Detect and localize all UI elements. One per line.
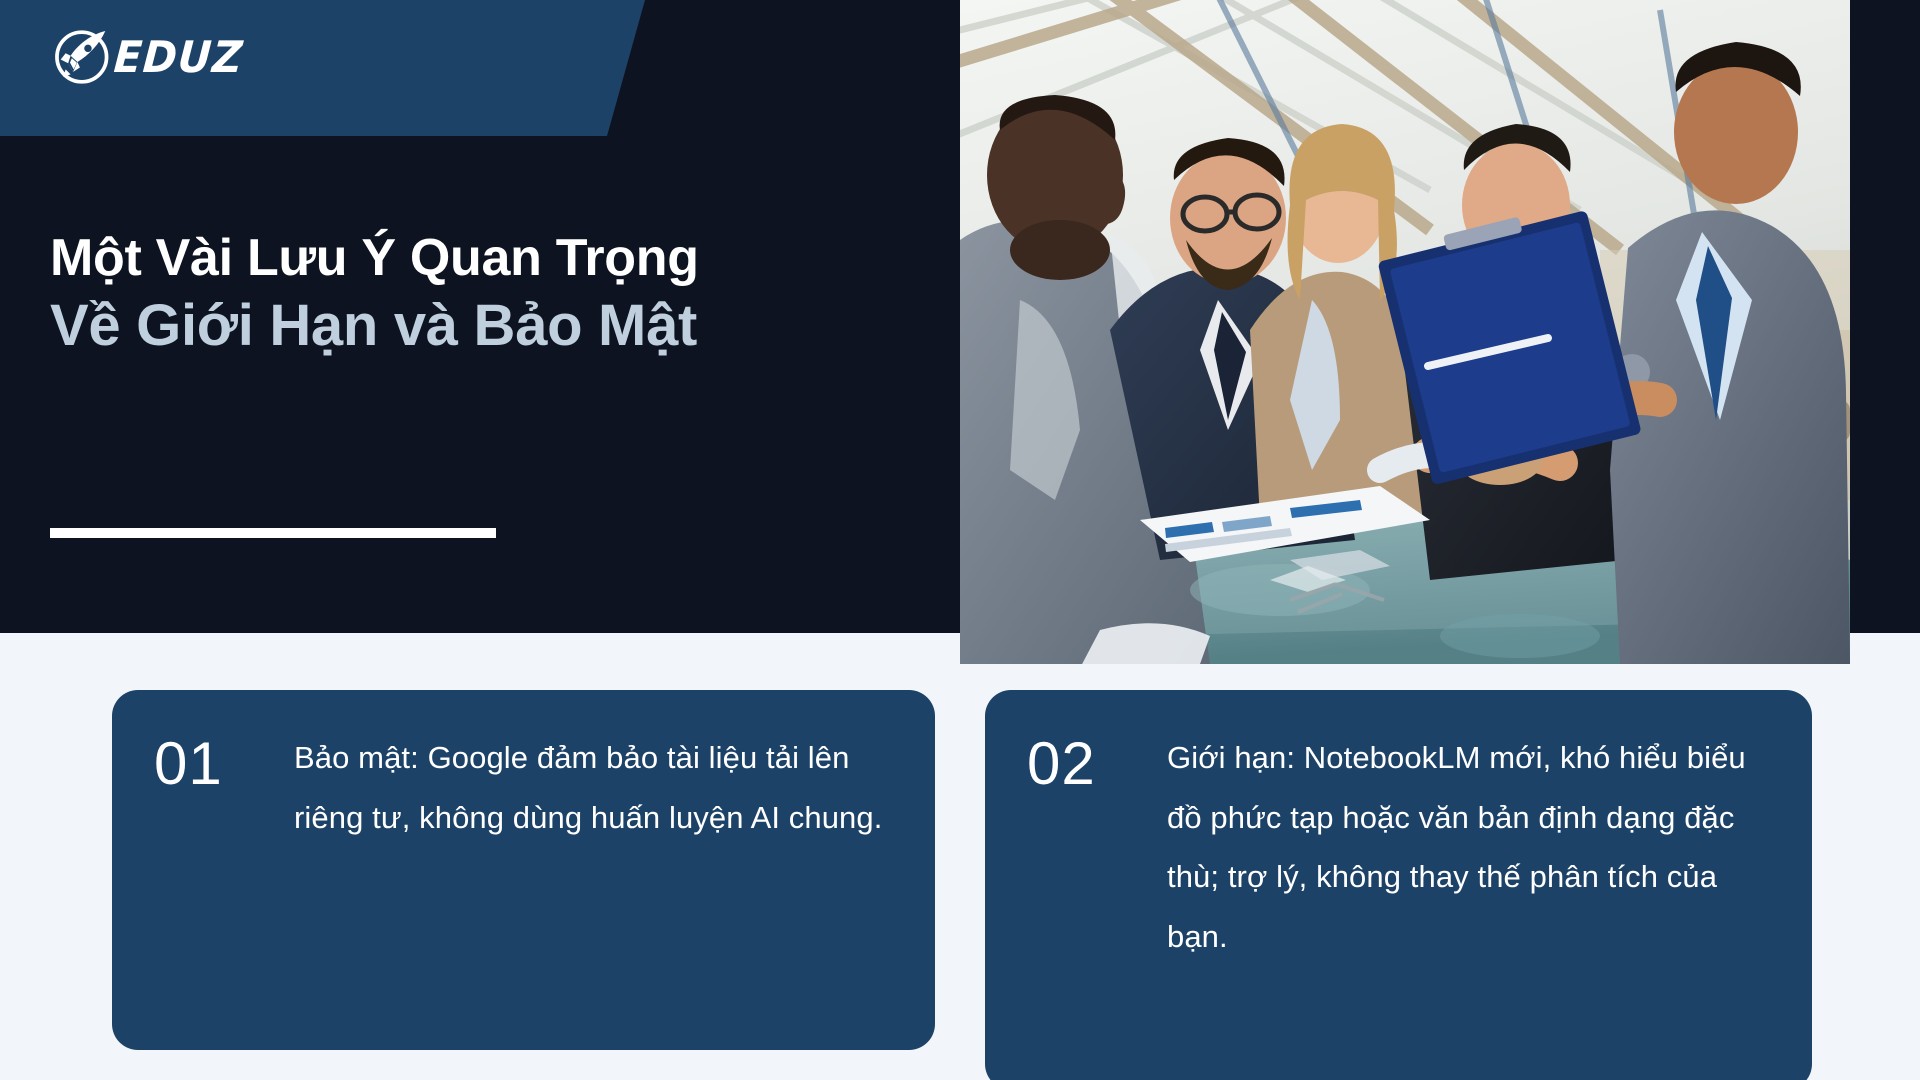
cards-row: 01 Bảo mật: Google đảm bảo tài liệu tải … [0,690,1920,1080]
card-text-02: Giới hạn: NotebookLM mới, khó hiểu biểu … [1167,728,1772,966]
slide-root: EDUZ Một Vài Lưu Ý Quan Trọng Về Giới Hạ… [0,0,1920,1080]
title-underline-rule [50,528,496,538]
info-card-02[interactable]: 02 Giới hạn: NotebookLM mới, khó hiểu bi… [985,690,1812,1080]
logo-bar: EDUZ [0,0,645,136]
page-title-line-2: Về Giới Hạn và Bảo Mật [50,292,830,360]
rocket-in-circle-icon [52,26,114,88]
header-photo [960,0,1850,664]
brand-wordmark: EDUZ [112,35,244,78]
page-title-line-1: Một Vài Lưu Ý Quan Trọng [50,228,830,288]
info-card-01[interactable]: 01 Bảo mật: Google đảm bảo tài liệu tải … [112,690,935,1050]
title-block: Một Vài Lưu Ý Quan Trọng Về Giới Hạn và … [50,228,830,361]
business-handshake-meeting-photo [960,0,1850,664]
card-number-02: 02 [1027,728,1167,794]
card-number-01: 01 [154,728,294,794]
brand-logo[interactable]: EDUZ [52,26,243,88]
card-text-01: Bảo mật: Google đảm bảo tài liệu tải lên… [294,728,895,847]
